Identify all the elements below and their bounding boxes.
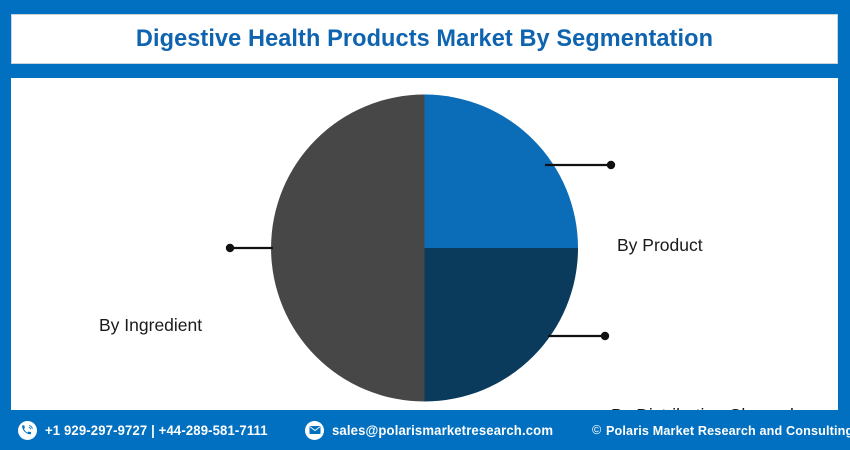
title-banner: Digestive Health Products Market By Segm… [11, 14, 838, 64]
phone-icon [18, 421, 37, 440]
footer-email-group[interactable]: sales@polarismarketresearch.com [305, 410, 560, 450]
leader-line-product [545, 161, 615, 169]
pie-label-product: By Product [617, 235, 703, 256]
leader-line-distribution-channel [548, 332, 609, 340]
copyright-icon: © [592, 423, 601, 437]
footer-bar: +1 929-297-9727 | +44-289-581-7111 sales… [0, 410, 850, 450]
pie-chart-svg [11, 78, 838, 410]
footer-phone-group[interactable]: +1 929-297-9727 | +44-289-581-7111 [18, 410, 275, 450]
chart-panel: By Product By Distribution Channel By In… [11, 78, 838, 410]
footer-copyright-group: © Polaris Market Research and Consulting… [592, 410, 850, 450]
footer-phone-text: +1 929-297-9727 | +44-289-581-7111 [45, 423, 268, 438]
leader-line-ingredient [226, 244, 273, 252]
footer-email-text: sales@polarismarketresearch.com [332, 423, 553, 438]
page-title: Digestive Health Products Market By Segm… [136, 25, 713, 53]
envelope-icon [305, 421, 324, 440]
pie-chart: By Product By Distribution Channel By In… [11, 78, 838, 410]
pie-label-ingredient: By Ingredient [99, 315, 202, 336]
pie-slice-distribution-channel[interactable] [425, 248, 579, 402]
footer-copyright-text: Polaris Market Research and Consulting L… [606, 423, 850, 438]
pie-slice-ingredient[interactable] [271, 95, 424, 402]
infographic-frame: Digestive Health Products Market By Segm… [0, 0, 850, 450]
pie-slice-product[interactable] [425, 95, 579, 249]
